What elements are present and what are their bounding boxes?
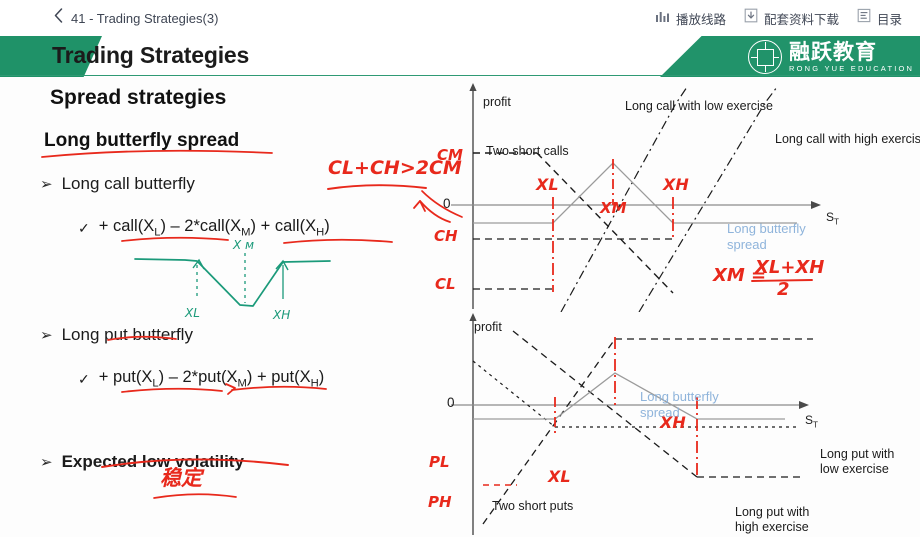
- anno-two-short-calls: Two short calls: [486, 144, 569, 159]
- contents-button[interactable]: 目录: [857, 8, 902, 28]
- bullet-label: Long put butterfly: [62, 325, 193, 345]
- lower-xlabel: ST: [805, 413, 818, 429]
- playback-route-button[interactable]: 播放线路: [655, 9, 726, 28]
- contents-label: 目录: [877, 9, 902, 28]
- bullet-label: Expected low volatility: [62, 452, 244, 472]
- sketch-label-xl: XL: [184, 306, 200, 320]
- toolbar-actions: 播放线路 配套资料下载 目录: [655, 8, 902, 28]
- arrow-bullet-icon: ➢: [40, 328, 53, 345]
- upper-xlabel: ST: [826, 210, 839, 226]
- bar-chart-icon: [655, 9, 670, 28]
- formula-text: + call(XL) – 2*call(XM) + call(XH): [99, 217, 330, 238]
- bullet-long-put-butterfly: ➢ Long put butterfly: [40, 325, 193, 345]
- list-icon: [857, 8, 871, 28]
- anno-long-put-low-exercise: Long put with low exercise: [820, 447, 916, 478]
- upper-ylabel: profit: [483, 95, 511, 109]
- formula-text: + put(XL) – 2*put(XM) + put(XH): [99, 368, 325, 389]
- brand-name-en: RONG YUE EDUCATION: [789, 65, 914, 73]
- lesson-title: 41 - Trading Strategies(3): [71, 11, 218, 26]
- chevron-left-icon: [54, 8, 63, 28]
- sketch-label-xm: X м: [232, 238, 254, 252]
- anno-long-call-high-exercise: Long call with high exercise: [775, 132, 920, 147]
- bullet-long-call-butterfly: ➢ Long call butterfly: [40, 174, 195, 194]
- lower-ylabel: profit: [474, 320, 502, 334]
- arrow-bullet-icon: ➢: [40, 455, 53, 472]
- playback-route-label: 播放线路: [676, 9, 726, 28]
- upper-zero-label: 0: [443, 196, 451, 211]
- top-toolbar: 41 - Trading Strategies(3) 播放线路: [0, 0, 920, 36]
- check-icon: ✓: [78, 220, 90, 237]
- green-butterfly-sketch: X м XL XH: [125, 237, 340, 332]
- check-icon: ✓: [78, 371, 90, 388]
- page-title: Trading Strategies: [52, 42, 249, 69]
- arrow-bullet-icon: ➢: [40, 177, 53, 194]
- brand-name-cn: 融跃教育: [789, 42, 914, 63]
- download-icon: [744, 8, 758, 28]
- slide-canvas: Spread strategies Long butterfly spread …: [0, 77, 920, 537]
- bullet-expected-low-volatility: ➢ Expected low volatility: [40, 452, 244, 472]
- slide-subtitle: Spread strategies: [50, 86, 226, 110]
- anno-two-short-puts: Two short puts: [492, 499, 573, 514]
- slide-heading: Long butterfly spread: [44, 130, 239, 152]
- download-materials-button[interactable]: 配套资料下载: [744, 8, 839, 28]
- red-ink-left: [36, 141, 456, 501]
- back-button[interactable]: 41 - Trading Strategies(3): [54, 8, 218, 28]
- lower-zero-label: 0: [447, 395, 455, 410]
- download-materials-label: 配套资料下载: [764, 9, 839, 28]
- bullet-label: Long call butterfly: [62, 174, 195, 194]
- formula-put-butterfly: ✓ + put(XL) – 2*put(XM) + put(XH): [78, 368, 324, 389]
- formula-call-butterfly: ✓ + call(XL) – 2*call(XM) + call(XH): [78, 217, 330, 238]
- emblem-inner: [757, 49, 774, 66]
- brand-logo: 融跃教育 RONG YUE EDUCATION: [748, 40, 914, 74]
- globe-emblem-icon: [748, 40, 782, 74]
- anno-long-call-low-exercise: Long call with low exercise: [625, 99, 773, 114]
- anno-lower-long-butterfly-spread: Long butterfly spread: [640, 389, 740, 421]
- anno-upper-long-butterfly-spread: Long butterfly spread: [727, 221, 823, 253]
- anno-long-put-high-exercise: Long put with high exercise: [735, 505, 835, 536]
- sketch-label-xh: XH: [272, 308, 290, 322]
